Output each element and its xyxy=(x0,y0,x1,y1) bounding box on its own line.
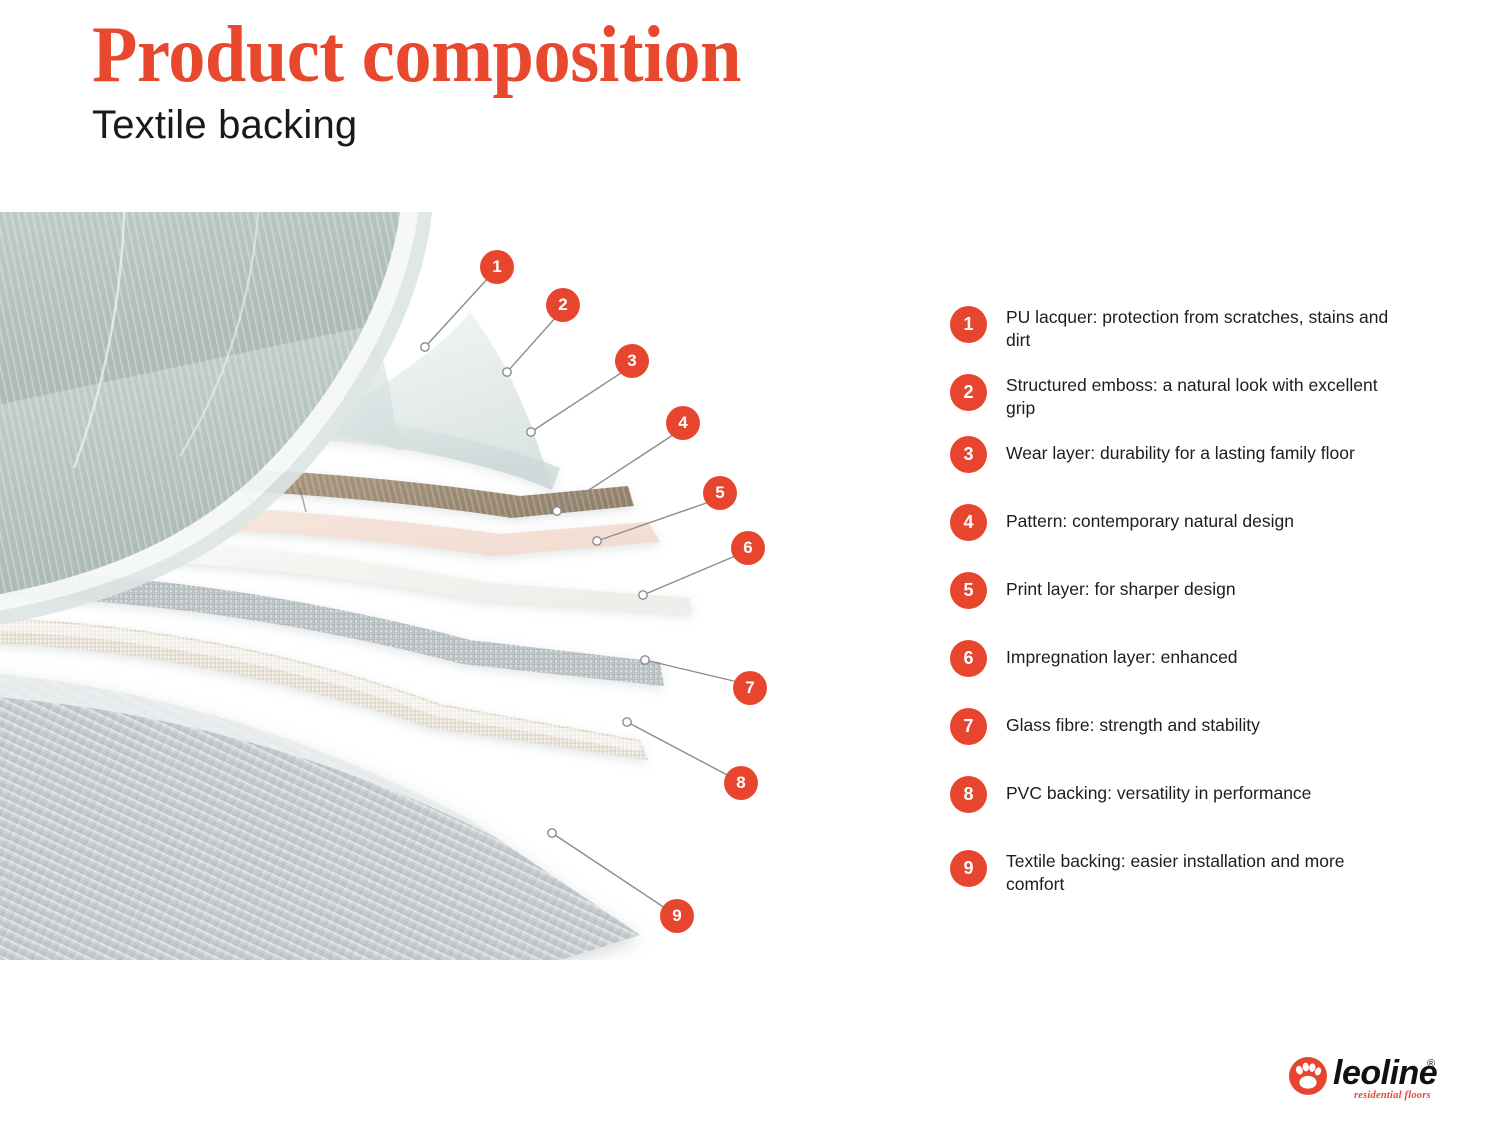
legend-badge-5: 5 xyxy=(950,572,987,609)
legend-item-4[interactable]: 4 Pattern: contemporary natural design xyxy=(950,504,1420,572)
legend-label-1: PU lacquer: protection from scratches, s… xyxy=(1006,300,1406,352)
callout-badge-5[interactable]: 5 xyxy=(703,476,737,510)
legend-list: 1 PU lacquer: protection from scratches,… xyxy=(950,300,1420,912)
callout-badge-8[interactable]: 8 xyxy=(724,766,758,800)
legend-item-1[interactable]: 1 PU lacquer: protection from scratches,… xyxy=(950,300,1420,368)
brand-logo[interactable]: leoline ® residential floors xyxy=(1288,1052,1438,1106)
legend-label-5: Print layer: for sharper design xyxy=(1006,572,1236,601)
infographic-page: Product composition Textile backing xyxy=(0,0,1500,1125)
legend-item-7[interactable]: 7 Glass fibre: strength and stability xyxy=(950,708,1420,776)
legend-badge-7: 7 xyxy=(950,708,987,745)
legend-badge-6: 6 xyxy=(950,640,987,677)
callout-badge-7[interactable]: 7 xyxy=(733,671,767,705)
legend-badge-1: 1 xyxy=(950,306,987,343)
header: Product composition Textile backing xyxy=(92,12,790,148)
callout-badge-6[interactable]: 6 xyxy=(731,531,765,565)
legend-label-6: Impregnation layer: enhanced xyxy=(1006,640,1238,669)
legend-label-3: Wear layer: durability for a lasting fam… xyxy=(1006,436,1355,465)
legend-badge-2: 2 xyxy=(950,374,987,411)
product-layers-illustration xyxy=(0,200,820,960)
legend-item-2[interactable]: 2 Structured emboss: a natural look with… xyxy=(950,368,1420,436)
legend-label-2: Structured emboss: a natural look with e… xyxy=(1006,368,1406,420)
legend-badge-8: 8 xyxy=(950,776,987,813)
callout-badge-9[interactable]: 9 xyxy=(660,899,694,933)
callout-badge-2[interactable]: 2 xyxy=(546,288,580,322)
legend-label-4: Pattern: contemporary natural design xyxy=(1006,504,1294,533)
paw-print-icon xyxy=(1288,1056,1328,1096)
logo-wordmark: leoline xyxy=(1333,1054,1437,1092)
legend-item-3[interactable]: 3 Wear layer: durability for a lasting f… xyxy=(950,436,1420,504)
textile-backing-layer xyxy=(0,670,640,960)
logo-tagline: residential floors xyxy=(1354,1090,1431,1101)
registered-trademark-icon: ® xyxy=(1427,1058,1435,1070)
legend-label-9: Textile backing: easier installation and… xyxy=(1006,844,1406,896)
legend-item-9[interactable]: 9 Textile backing: easier installation a… xyxy=(950,844,1420,912)
page-title: Product composition xyxy=(92,12,741,98)
legend-item-5[interactable]: 5 Print layer: for sharper design xyxy=(950,572,1420,640)
legend-badge-3: 3 xyxy=(950,436,987,473)
legend-badge-4: 4 xyxy=(950,504,987,541)
legend-badge-9: 9 xyxy=(950,850,987,887)
callout-badge-3[interactable]: 3 xyxy=(615,344,649,378)
legend-label-7: Glass fibre: strength and stability xyxy=(1006,708,1260,737)
page-subtitle: Textile backing xyxy=(92,102,790,148)
legend-label-8: PVC backing: versatility in performance xyxy=(1006,776,1311,805)
legend-item-6[interactable]: 6 Impregnation layer: enhanced xyxy=(950,640,1420,708)
callout-badge-4[interactable]: 4 xyxy=(666,406,700,440)
callout-badge-1[interactable]: 1 xyxy=(480,250,514,284)
legend-item-8[interactable]: 8 PVC backing: versatility in performanc… xyxy=(950,776,1420,844)
